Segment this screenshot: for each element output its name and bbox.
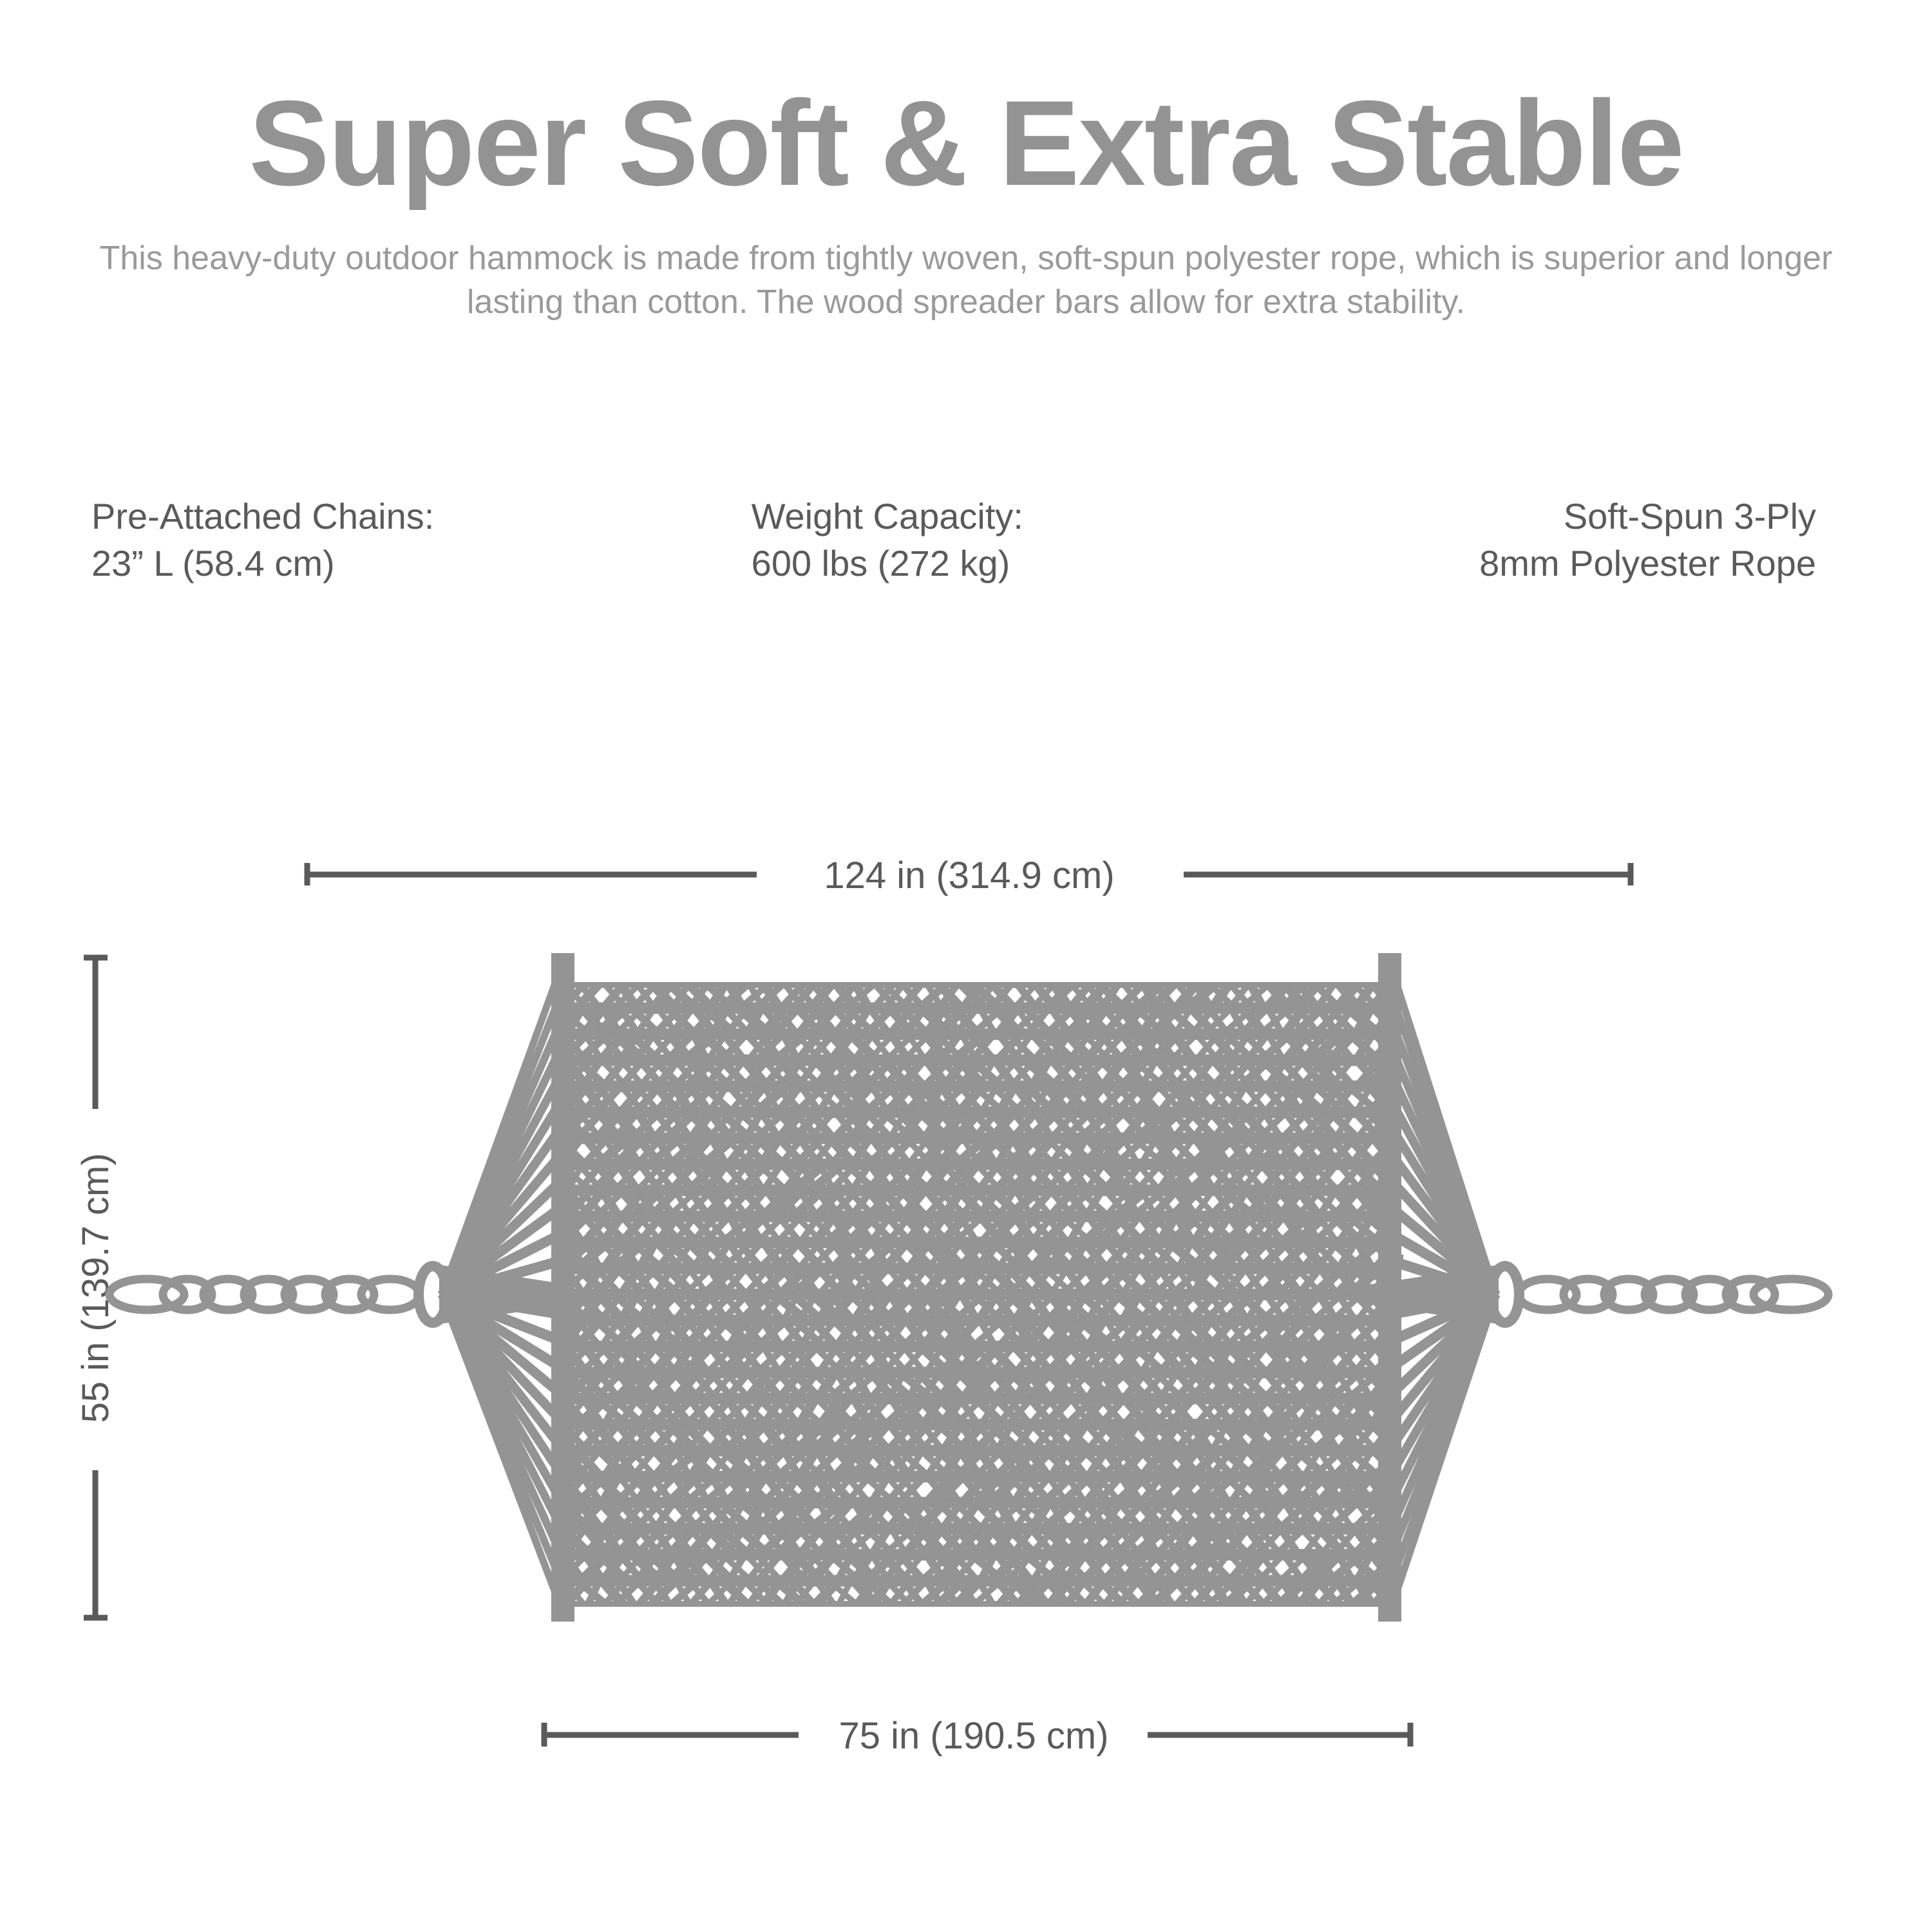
hammock-diagram: 124 in (314.9 cm) 75 in (190.5 cm) 55 in…	[0, 0, 1932, 1932]
dimension-label-bed-width: 75 in (190.5 cm)	[838, 1715, 1108, 1757]
chain-left	[109, 1279, 419, 1310]
spreader-bar-right	[1378, 953, 1401, 1622]
dimension-overall-length: 124 in (314.9 cm)	[307, 855, 1631, 896]
chain-right	[1519, 1279, 1828, 1310]
infographic-page: Super Soft & Extra Stable This heavy-dut…	[0, 0, 1932, 1932]
dimension-bed-width: 75 in (190.5 cm)	[544, 1715, 1410, 1757]
rope-mesh	[558, 976, 1416, 1613]
spreader-bar-left	[551, 953, 574, 1622]
dimension-label-overall-length: 124 in (314.9 cm)	[824, 855, 1114, 896]
